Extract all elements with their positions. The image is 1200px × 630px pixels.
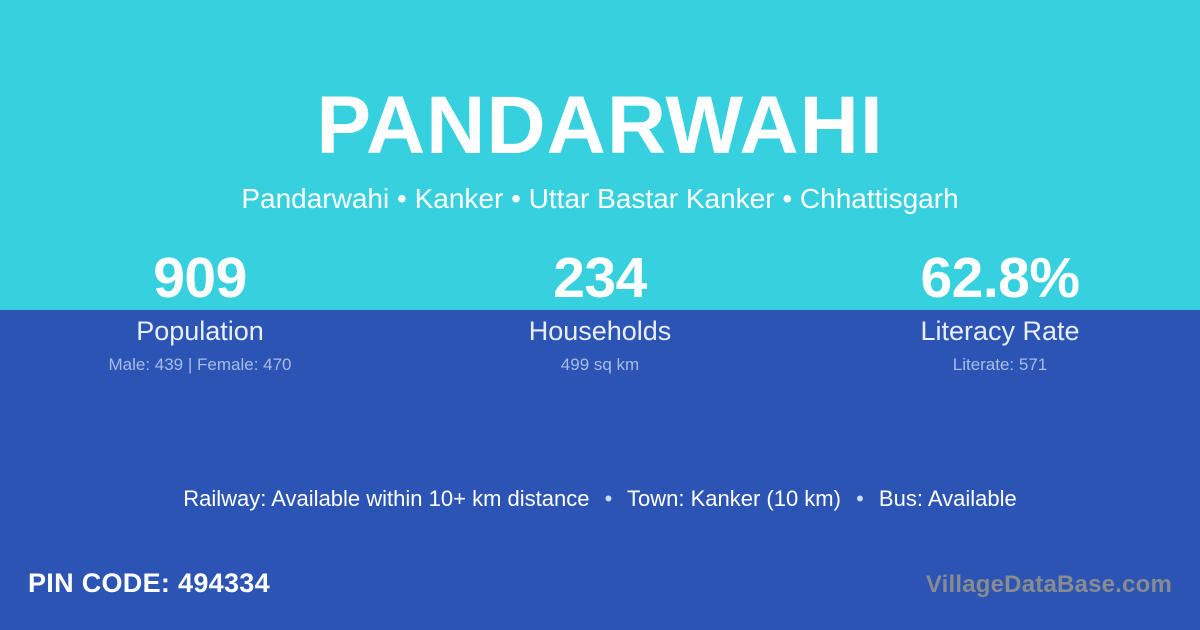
stat-sublabel: 499 sq km [400, 355, 800, 375]
stat-literacy-rate: 62.8% Literacy Rate Literate: 571 [800, 246, 1200, 375]
stat-households: 234 Households 499 sq km [400, 246, 800, 375]
pin-code: PIN CODE: 494334 [28, 566, 270, 600]
breadcrumb: Pandarwahi • Kanker • Uttar Bastar Kanke… [0, 182, 1200, 216]
stats-row: 909 Population Male: 439 | Female: 470 2… [0, 246, 1200, 375]
stat-value: 234 [400, 246, 800, 310]
village-info-card: PANDARWAHI Pandarwahi • Kanker • Uttar B… [0, 0, 1200, 630]
amenity-town: Town: Kanker (10 km) [627, 486, 841, 511]
amenity-bus: Bus: Available [879, 486, 1017, 511]
stat-population: 909 Population Male: 439 | Female: 470 [0, 246, 400, 375]
amenities-row: Railway: Available within 10+ km distanc… [0, 484, 1200, 514]
stat-value: 909 [0, 246, 400, 310]
stat-sublabel: Male: 439 | Female: 470 [0, 355, 400, 375]
card-footer: PIN CODE: 494334 VillageDataBase.com [0, 552, 1200, 630]
stat-sublabel: Literate: 571 [800, 355, 1200, 375]
stat-label: Households [400, 315, 800, 347]
amenity-separator-icon: • [596, 486, 622, 511]
site-watermark: VillageDataBase.com [926, 570, 1172, 600]
amenity-railway: Railway: Available within 10+ km distanc… [183, 486, 589, 511]
amenity-separator-icon: • [847, 486, 873, 511]
page-title: PANDARWAHI [0, 78, 1200, 174]
stat-label: Population [0, 315, 400, 347]
stat-label: Literacy Rate [800, 315, 1200, 347]
stat-value: 62.8% [800, 246, 1200, 310]
